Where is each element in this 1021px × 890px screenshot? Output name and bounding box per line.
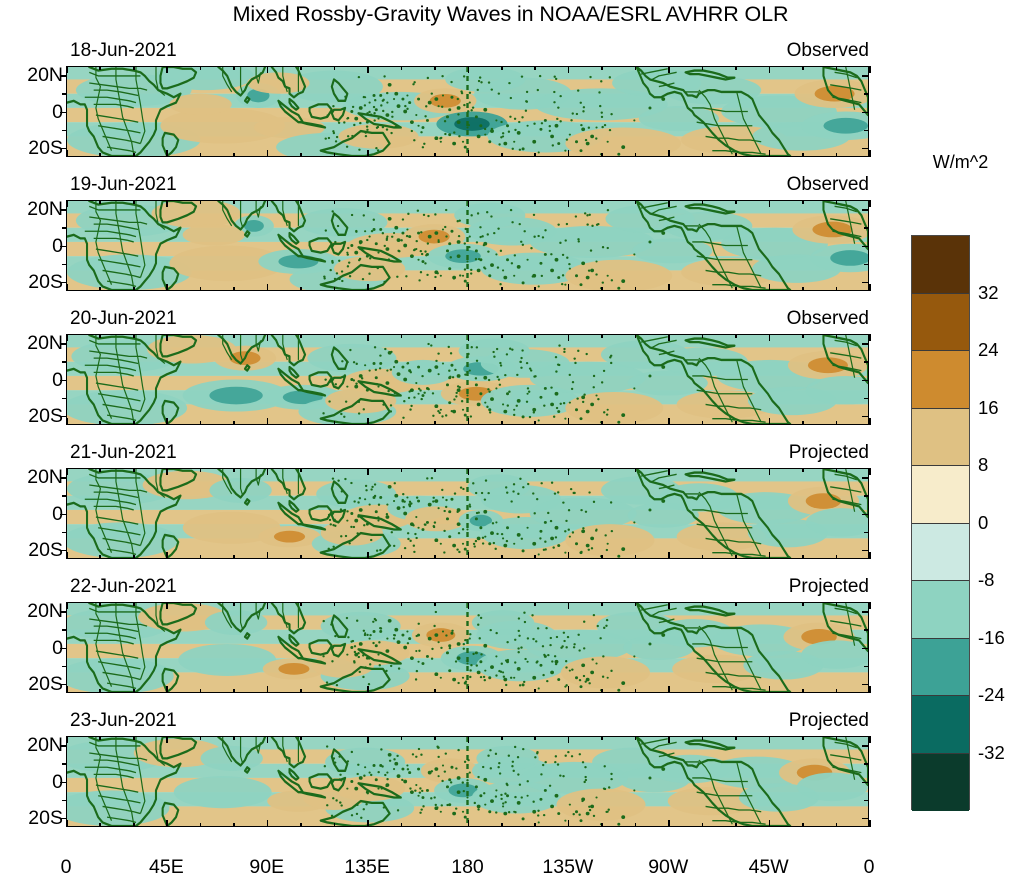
y-axis-minor-tick — [864, 666, 869, 668]
x-axis-tick — [468, 552, 470, 559]
x-axis-tick — [267, 686, 269, 693]
y-axis-tick — [862, 209, 869, 211]
y-axis-label: 0 — [0, 637, 63, 660]
panel-date-label: 19-Jun-2021 — [70, 174, 177, 196]
colorbar-tick-label: -8 — [978, 569, 994, 591]
colorbar — [911, 235, 970, 810]
x-axis-minor-tick — [501, 468, 503, 472]
y-axis-tick — [60, 745, 67, 747]
panel-date-label: 20-Jun-2021 — [70, 308, 177, 330]
y-axis-minor-tick — [62, 227, 67, 229]
x-axis-minor-tick — [200, 421, 202, 425]
x-axis-tick — [367, 150, 369, 157]
x-axis-minor-tick — [601, 200, 603, 204]
x-axis-minor-tick — [300, 602, 302, 606]
colorbar-swatch — [912, 351, 969, 409]
x-axis-tick — [668, 200, 670, 207]
x-axis-minor-tick — [434, 689, 436, 693]
x-axis-minor-tick — [802, 66, 804, 70]
figure-canvas: Mixed Rossby-Gravity Waves in NOAA/ESRL … — [0, 0, 1021, 890]
x-axis-label: 90W — [623, 856, 713, 879]
y-axis-minor-tick — [864, 361, 869, 363]
x-axis-tick — [568, 820, 570, 827]
x-axis-minor-tick — [99, 602, 101, 606]
x-axis-tick — [869, 418, 871, 425]
y-axis-label: 0 — [0, 369, 63, 392]
x-axis-minor-tick — [434, 823, 436, 827]
y-axis-label: 0 — [0, 771, 63, 794]
x-axis-tick — [568, 602, 570, 609]
x-axis-minor-tick — [334, 555, 336, 559]
y-axis-label: 20S — [0, 673, 63, 696]
y-axis-label: 20N — [0, 332, 63, 355]
x-axis-minor-tick — [534, 468, 536, 472]
x-axis-minor-tick — [635, 602, 637, 606]
x-axis-tick — [267, 418, 269, 425]
x-axis-minor-tick — [401, 555, 403, 559]
x-axis-minor-tick — [133, 468, 135, 472]
x-axis-minor-tick — [601, 287, 603, 291]
y-axis-label: 20S — [0, 807, 63, 830]
x-axis-tick — [869, 284, 871, 291]
x-axis-minor-tick — [99, 736, 101, 740]
y-axis-tick — [60, 380, 67, 382]
x-axis-minor-tick — [501, 736, 503, 740]
x-axis-minor-tick — [233, 468, 235, 472]
x-axis-tick — [869, 150, 871, 157]
x-axis-minor-tick — [735, 602, 737, 606]
x-axis-minor-tick — [735, 421, 737, 425]
x-axis-minor-tick — [233, 555, 235, 559]
y-axis-tick — [862, 550, 869, 552]
panel-date-label: 21-Jun-2021 — [70, 442, 177, 464]
x-axis-tick — [568, 552, 570, 559]
colorbar-tick-label: -24 — [978, 684, 1005, 706]
x-axis-tick — [166, 736, 168, 743]
y-axis-tick — [862, 611, 869, 613]
x-axis-minor-tick — [802, 689, 804, 693]
y-axis-tick — [862, 416, 869, 418]
panel-status-badge: Projected — [789, 442, 869, 464]
x-axis-minor-tick — [99, 66, 101, 70]
colorbar-swatch — [912, 524, 969, 582]
x-axis-tick — [66, 820, 68, 827]
x-axis-minor-tick — [434, 555, 436, 559]
x-axis-minor-tick — [702, 736, 704, 740]
x-axis-tick — [668, 418, 670, 425]
x-axis-minor-tick — [836, 555, 838, 559]
x-axis-minor-tick — [635, 736, 637, 740]
x-axis-tick — [166, 200, 168, 207]
x-axis-minor-tick — [233, 823, 235, 827]
x-axis-minor-tick — [133, 287, 135, 291]
x-axis-tick — [166, 418, 168, 425]
x-axis-tick — [66, 334, 68, 341]
x-axis-minor-tick — [836, 421, 838, 425]
x-axis-minor-tick — [99, 468, 101, 472]
x-axis-minor-tick — [802, 468, 804, 472]
x-axis-minor-tick — [702, 468, 704, 472]
x-axis-tick — [66, 200, 68, 207]
x-axis-minor-tick — [233, 602, 235, 606]
x-axis-tick — [66, 284, 68, 291]
x-axis-minor-tick — [735, 468, 737, 472]
y-axis-tick — [60, 648, 67, 650]
x-axis-minor-tick — [601, 334, 603, 338]
panel-date-label: 18-Jun-2021 — [70, 40, 177, 62]
x-axis-minor-tick — [133, 689, 135, 693]
x-axis-minor-tick — [534, 555, 536, 559]
x-axis-tick — [668, 468, 670, 475]
x-axis-minor-tick — [300, 200, 302, 204]
colorbar-swatch — [912, 236, 969, 294]
x-axis-minor-tick — [300, 153, 302, 157]
x-axis-tick — [267, 284, 269, 291]
y-axis-tick — [60, 343, 67, 345]
x-axis-tick — [66, 150, 68, 157]
x-axis-tick — [869, 200, 871, 207]
panel-status-badge: Observed — [787, 40, 869, 62]
x-axis-tick — [668, 736, 670, 743]
x-axis-tick — [769, 418, 771, 425]
x-axis-minor-tick — [434, 287, 436, 291]
y-axis-minor-tick — [62, 130, 67, 132]
y-axis-minor-tick — [864, 93, 869, 95]
x-axis-minor-tick — [802, 153, 804, 157]
panel-status-badge: Projected — [789, 576, 869, 598]
x-axis-minor-tick — [200, 736, 202, 740]
x-axis-minor-tick — [501, 823, 503, 827]
x-axis-tick — [668, 602, 670, 609]
y-axis-minor-tick — [864, 130, 869, 132]
x-axis-minor-tick — [334, 823, 336, 827]
colorbar-swatch — [912, 466, 969, 524]
y-axis-minor-tick — [864, 629, 869, 631]
x-axis-minor-tick — [501, 689, 503, 693]
x-axis-tick — [869, 736, 871, 743]
x-axis-minor-tick — [334, 200, 336, 204]
x-axis-minor-tick — [200, 287, 202, 291]
x-axis-label: 135E — [322, 856, 412, 879]
x-axis-minor-tick — [534, 200, 536, 204]
x-axis-tick — [367, 552, 369, 559]
x-axis-tick — [367, 200, 369, 207]
y-axis-tick — [862, 343, 869, 345]
x-axis-minor-tick — [233, 287, 235, 291]
x-axis-minor-tick — [702, 66, 704, 70]
x-axis-minor-tick — [434, 602, 436, 606]
x-axis-tick — [468, 200, 470, 207]
x-axis-minor-tick — [200, 602, 202, 606]
x-axis-label: 90E — [222, 856, 312, 879]
y-axis-label: 20S — [0, 137, 63, 160]
x-axis-minor-tick — [233, 200, 235, 204]
x-axis-minor-tick — [99, 153, 101, 157]
x-axis-tick — [166, 552, 168, 559]
x-axis-label: 0 — [21, 856, 111, 879]
x-axis-minor-tick — [434, 468, 436, 472]
x-axis-minor-tick — [836, 468, 838, 472]
x-axis-tick — [66, 602, 68, 609]
x-axis-minor-tick — [702, 153, 704, 157]
x-axis-minor-tick — [802, 823, 804, 827]
x-axis-tick — [869, 66, 871, 73]
x-axis-minor-tick — [601, 602, 603, 606]
y-axis-minor-tick — [62, 93, 67, 95]
x-axis-minor-tick — [836, 689, 838, 693]
map-panel-5 — [66, 602, 869, 693]
x-axis-minor-tick — [99, 200, 101, 204]
x-axis-minor-tick — [133, 602, 135, 606]
x-axis-minor-tick — [233, 421, 235, 425]
x-axis-minor-tick — [534, 736, 536, 740]
x-axis-tick — [869, 552, 871, 559]
y-axis-minor-tick — [864, 398, 869, 400]
x-axis-minor-tick — [702, 689, 704, 693]
x-axis-minor-tick — [501, 555, 503, 559]
page-title: Mixed Rossby-Gravity Waves in NOAA/ESRL … — [0, 2, 1021, 27]
x-axis-minor-tick — [401, 468, 403, 472]
x-axis-minor-tick — [836, 153, 838, 157]
y-axis-tick — [862, 782, 869, 784]
x-axis-minor-tick — [735, 200, 737, 204]
x-axis-minor-tick — [501, 200, 503, 204]
x-axis-tick — [468, 284, 470, 291]
x-axis-tick — [166, 150, 168, 157]
x-axis-tick — [468, 418, 470, 425]
x-axis-minor-tick — [300, 287, 302, 291]
map-panel-6 — [66, 736, 869, 827]
colorbar-title: W/m^2 — [900, 152, 1021, 173]
x-axis-minor-tick — [635, 153, 637, 157]
x-axis-minor-tick — [200, 66, 202, 70]
y-axis-label: 20S — [0, 539, 63, 562]
x-axis-minor-tick — [300, 736, 302, 740]
panel-status-badge: Projected — [789, 710, 869, 732]
x-axis-minor-tick — [233, 689, 235, 693]
x-axis-minor-tick — [635, 287, 637, 291]
x-axis-minor-tick — [99, 334, 101, 338]
y-axis-tick — [60, 246, 67, 248]
colorbar-swatch — [912, 696, 969, 754]
colorbar-swatch — [912, 639, 969, 697]
x-axis-label: 180 — [423, 856, 513, 879]
x-axis-minor-tick — [434, 200, 436, 204]
x-axis-tick — [869, 602, 871, 609]
x-axis-tick — [367, 284, 369, 291]
x-axis-label: 0 — [824, 856, 914, 879]
x-axis-tick — [166, 334, 168, 341]
x-axis-minor-tick — [401, 334, 403, 338]
x-axis-minor-tick — [836, 287, 838, 291]
x-axis-minor-tick — [735, 823, 737, 827]
colorbar-tick-label: 24 — [978, 339, 999, 361]
colorbar-swatch — [912, 409, 969, 467]
x-axis-tick — [66, 552, 68, 559]
x-axis-tick — [769, 602, 771, 609]
x-axis-minor-tick — [99, 421, 101, 425]
x-axis-tick — [468, 686, 470, 693]
y-axis-tick — [862, 818, 869, 820]
y-axis-minor-tick — [62, 800, 67, 802]
x-axis-tick — [367, 820, 369, 827]
x-axis-tick — [166, 602, 168, 609]
x-axis-minor-tick — [534, 421, 536, 425]
x-axis-minor-tick — [200, 823, 202, 827]
y-axis-tick — [60, 477, 67, 479]
x-axis-tick — [367, 686, 369, 693]
x-axis-minor-tick — [334, 287, 336, 291]
x-axis-minor-tick — [802, 602, 804, 606]
x-axis-tick — [668, 66, 670, 73]
x-axis-minor-tick — [200, 334, 202, 338]
x-axis-minor-tick — [635, 66, 637, 70]
x-axis-tick — [568, 418, 570, 425]
y-axis-label: 20N — [0, 466, 63, 489]
x-axis-minor-tick — [735, 689, 737, 693]
x-axis-minor-tick — [133, 153, 135, 157]
y-axis-minor-tick — [62, 361, 67, 363]
x-axis-minor-tick — [99, 823, 101, 827]
x-axis-minor-tick — [702, 555, 704, 559]
x-axis-tick — [367, 334, 369, 341]
x-axis-tick — [468, 150, 470, 157]
x-axis-tick — [267, 66, 269, 73]
x-axis-minor-tick — [300, 823, 302, 827]
x-axis-minor-tick — [802, 334, 804, 338]
x-axis-tick — [568, 66, 570, 73]
x-axis-minor-tick — [601, 555, 603, 559]
x-axis-tick — [166, 820, 168, 827]
x-axis-minor-tick — [702, 602, 704, 606]
x-axis-minor-tick — [802, 555, 804, 559]
x-axis-tick — [166, 468, 168, 475]
x-axis-tick — [769, 820, 771, 827]
x-axis-minor-tick — [401, 421, 403, 425]
x-axis-tick — [769, 284, 771, 291]
x-axis-minor-tick — [501, 153, 503, 157]
y-axis-minor-tick — [62, 495, 67, 497]
x-axis-tick — [267, 468, 269, 475]
x-axis-tick — [66, 418, 68, 425]
x-axis-minor-tick — [334, 153, 336, 157]
x-axis-tick — [869, 686, 871, 693]
colorbar-tick-label: 32 — [978, 282, 999, 304]
y-axis-tick — [862, 477, 869, 479]
x-axis-minor-tick — [802, 287, 804, 291]
colorbar-tick-label: 16 — [978, 397, 999, 419]
x-axis-minor-tick — [99, 555, 101, 559]
x-axis-minor-tick — [735, 334, 737, 338]
y-axis-tick — [60, 209, 67, 211]
x-axis-tick — [568, 334, 570, 341]
y-axis-tick — [862, 148, 869, 150]
x-axis-minor-tick — [601, 823, 603, 827]
x-axis-tick — [468, 602, 470, 609]
x-axis-minor-tick — [133, 66, 135, 70]
x-axis-minor-tick — [601, 153, 603, 157]
x-axis-minor-tick — [401, 287, 403, 291]
x-axis-minor-tick — [802, 736, 804, 740]
y-axis-minor-tick — [62, 763, 67, 765]
x-axis-tick — [468, 66, 470, 73]
y-axis-label: 20N — [0, 64, 63, 87]
x-axis-tick — [367, 602, 369, 609]
y-axis-tick — [862, 112, 869, 114]
x-axis-minor-tick — [200, 689, 202, 693]
x-axis-minor-tick — [99, 287, 101, 291]
y-axis-minor-tick — [864, 763, 869, 765]
map-panel-1 — [66, 66, 869, 157]
x-axis-minor-tick — [300, 66, 302, 70]
x-axis-tick — [66, 736, 68, 743]
x-axis-minor-tick — [434, 66, 436, 70]
x-axis-minor-tick — [534, 153, 536, 157]
x-axis-minor-tick — [601, 468, 603, 472]
x-axis-tick — [568, 468, 570, 475]
x-axis-minor-tick — [200, 200, 202, 204]
y-axis-minor-tick — [62, 629, 67, 631]
x-axis-minor-tick — [601, 66, 603, 70]
x-axis-minor-tick — [635, 200, 637, 204]
x-axis-minor-tick — [836, 334, 838, 338]
x-axis-tick — [769, 736, 771, 743]
colorbar-swatch — [912, 581, 969, 639]
x-axis-minor-tick — [501, 421, 503, 425]
x-axis-tick — [668, 820, 670, 827]
y-axis-tick — [862, 282, 869, 284]
x-axis-minor-tick — [334, 468, 336, 472]
y-axis-label: 20N — [0, 600, 63, 623]
x-axis-minor-tick — [836, 823, 838, 827]
x-axis-minor-tick — [635, 334, 637, 338]
x-axis-minor-tick — [401, 602, 403, 606]
y-axis-label: 20S — [0, 271, 63, 294]
x-axis-minor-tick — [200, 468, 202, 472]
x-axis-tick — [869, 468, 871, 475]
y-axis-label: 20S — [0, 405, 63, 428]
x-axis-minor-tick — [133, 421, 135, 425]
x-axis-minor-tick — [735, 736, 737, 740]
y-axis-tick — [60, 514, 67, 516]
y-axis-label: 0 — [0, 503, 63, 526]
x-axis-minor-tick — [334, 689, 336, 693]
x-axis-minor-tick — [401, 689, 403, 693]
x-axis-minor-tick — [133, 736, 135, 740]
colorbar-swatch — [912, 754, 969, 812]
x-axis-minor-tick — [300, 334, 302, 338]
x-axis-tick — [869, 334, 871, 341]
panel-status-badge: Observed — [787, 174, 869, 196]
x-axis-minor-tick — [401, 736, 403, 740]
x-axis-tick — [267, 820, 269, 827]
x-axis-minor-tick — [635, 468, 637, 472]
x-axis-tick — [769, 552, 771, 559]
y-axis-minor-tick — [62, 398, 67, 400]
panel-date-label: 23-Jun-2021 — [70, 710, 177, 732]
y-axis-tick — [862, 745, 869, 747]
x-axis-label: 45E — [121, 856, 211, 879]
x-axis-tick — [568, 284, 570, 291]
x-axis-tick — [367, 66, 369, 73]
x-axis-tick — [468, 334, 470, 341]
y-axis-tick — [862, 246, 869, 248]
x-axis-minor-tick — [635, 823, 637, 827]
y-axis-tick — [862, 684, 869, 686]
x-axis-minor-tick — [702, 200, 704, 204]
y-axis-label: 0 — [0, 235, 63, 258]
map-panel-3 — [66, 334, 869, 425]
